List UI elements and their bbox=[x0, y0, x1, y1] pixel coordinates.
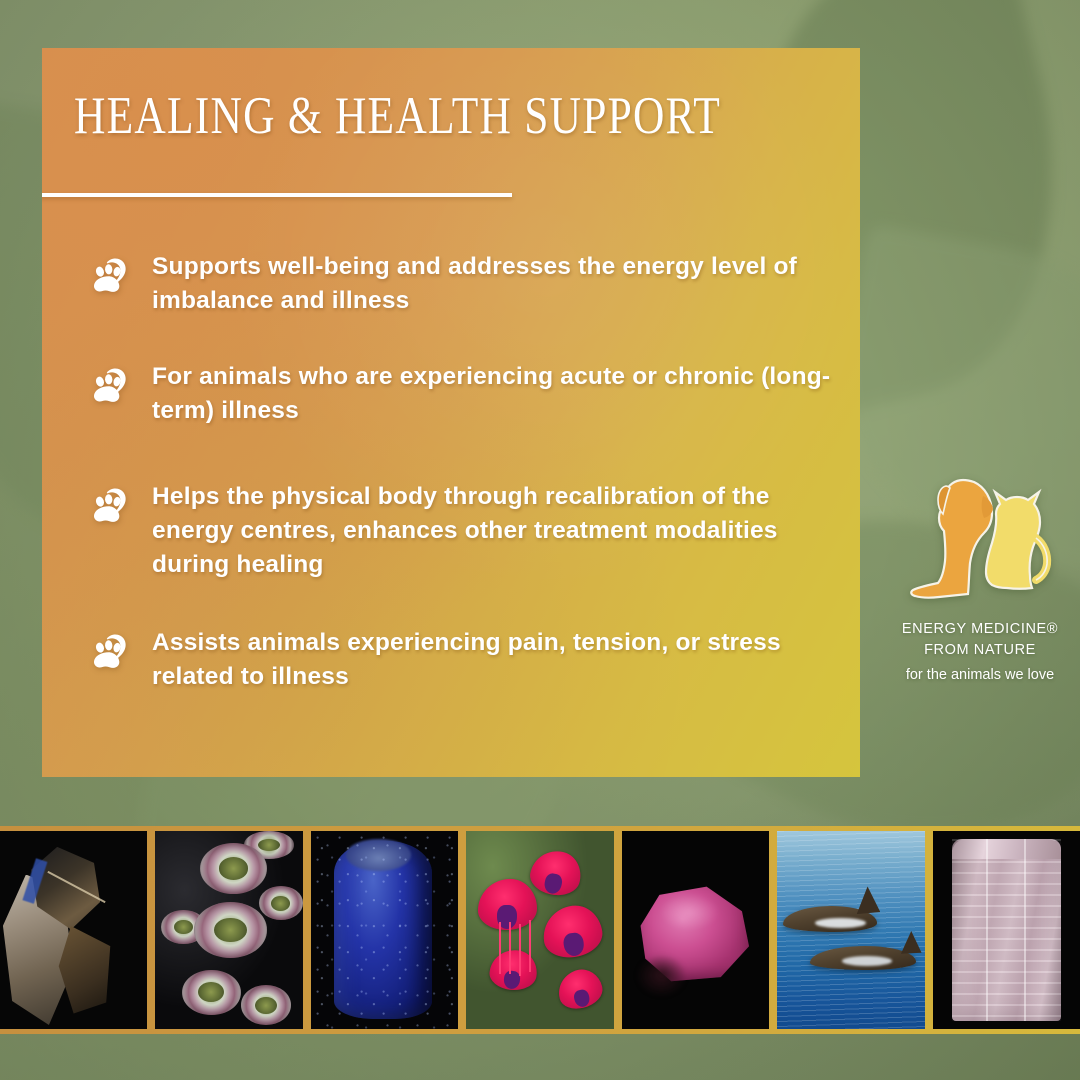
benefits-list: Supports well-being and addresses the en… bbox=[88, 246, 848, 736]
strip-image-dolphins-in-ocean bbox=[777, 831, 924, 1029]
smoky-quartz-crystal-art bbox=[0, 831, 147, 1029]
paw-heart-icon bbox=[88, 486, 134, 532]
logo-line-1: ENERGY MEDICINE® bbox=[890, 619, 1070, 640]
dog-and-cat-silhouette-logo-icon bbox=[905, 466, 1055, 611]
strip-image-pink-ruby-mineral bbox=[622, 831, 769, 1029]
list-item-label: Helps the physical body through recalibr… bbox=[152, 480, 848, 582]
dolphins-in-ocean-art bbox=[777, 831, 924, 1029]
strip-image-smoky-quartz-crystal bbox=[0, 831, 147, 1029]
list-item: Assists animals experiencing pain, tensi… bbox=[88, 626, 848, 694]
list-item: For animals who are experiencing acute o… bbox=[88, 360, 848, 428]
pink-kunzite-crystal-art bbox=[933, 831, 1080, 1029]
fuchsia-flowers-art bbox=[466, 831, 613, 1029]
image-strip bbox=[0, 826, 1080, 1034]
logo-line-2: FROM NATURE bbox=[890, 640, 1070, 661]
list-item-label: Supports well-being and addresses the en… bbox=[152, 250, 848, 318]
paw-heart-icon bbox=[88, 366, 134, 412]
pink-ruby-mineral-art bbox=[622, 831, 769, 1029]
strip-image-azurite-blue-mineral bbox=[311, 831, 458, 1029]
page-title: HEALING & HEALTH SUPPORT bbox=[74, 86, 721, 146]
logo-tagline: for the animals we love bbox=[890, 664, 1070, 686]
strip-image-sea-anemones bbox=[155, 831, 302, 1029]
azurite-blue-mineral-art bbox=[311, 831, 458, 1029]
list-item-label: For animals who are experiencing acute o… bbox=[152, 360, 848, 428]
strip-image-pink-kunzite-crystal bbox=[933, 831, 1080, 1029]
paw-heart-icon bbox=[88, 632, 134, 678]
sea-anemones-art bbox=[155, 831, 302, 1029]
content-panel: HEALING & HEALTH SUPPORT Supports well-b… bbox=[42, 48, 860, 777]
list-item: Supports well-being and addresses the en… bbox=[88, 250, 848, 318]
strip-image-fuchsia-flowers bbox=[466, 831, 613, 1029]
list-item-label: Assists animals experiencing pain, tensi… bbox=[152, 626, 848, 694]
brand-logo: ENERGY MEDICINE® FROM NATURE for the ani… bbox=[890, 466, 1070, 686]
title-divider bbox=[42, 193, 512, 197]
poster-canvas: HEALING & HEALTH SUPPORT Supports well-b… bbox=[0, 0, 1080, 1080]
paw-heart-icon bbox=[88, 256, 134, 302]
list-item: Helps the physical body through recalibr… bbox=[88, 480, 848, 582]
